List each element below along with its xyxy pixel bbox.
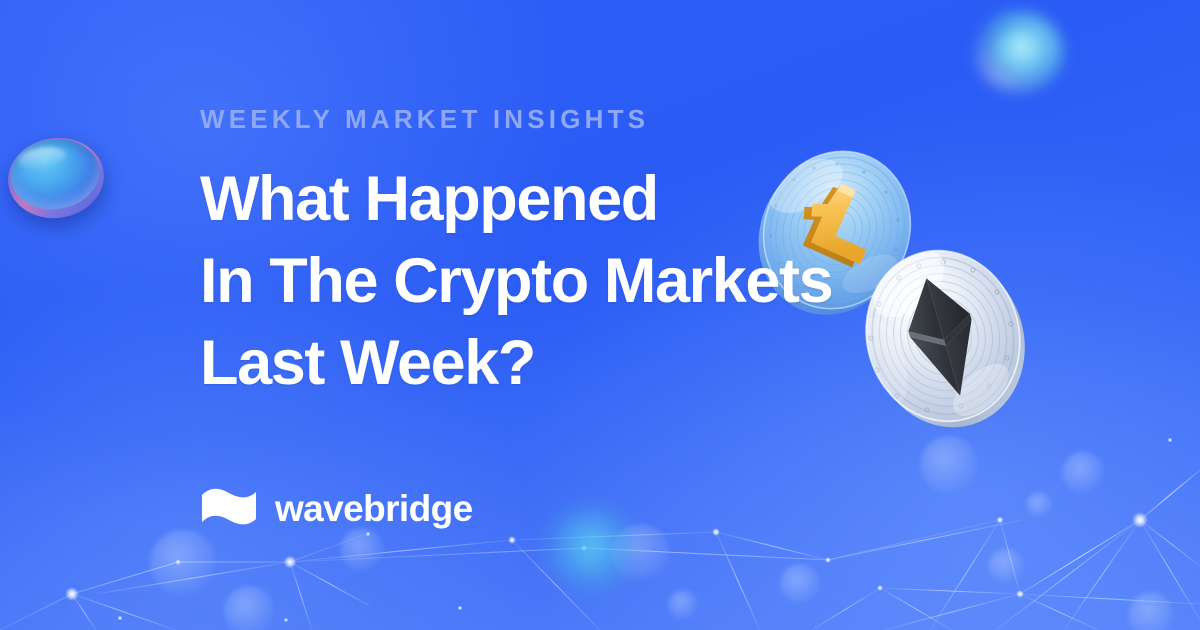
bokeh-dot (1128, 592, 1174, 630)
wavebridge-logo: wavebridge (200, 486, 473, 530)
eyebrow-label: WEEKLY MARKET INSIGHTS (200, 104, 649, 135)
headline-line-1: What Happened (200, 158, 900, 240)
bokeh-orb-top-right-core (996, 30, 1042, 72)
bokeh-dot (988, 548, 1024, 584)
headline-line-3: Last Week? (200, 322, 900, 404)
page-title: What Happened In The Crypto Markets Last… (200, 158, 900, 404)
bokeh-dot (1062, 452, 1104, 494)
wavebridge-flag-mark-icon (200, 486, 258, 530)
wavebridge-wordmark: wavebridge (275, 490, 473, 527)
glossy-disc-left (3, 132, 109, 225)
bokeh-dot (1026, 492, 1052, 518)
content-block: WEEKLY MARKET INSIGHTS What Happened In … (200, 0, 960, 630)
weekly-market-insights-banner: WEEKLY MARKET INSIGHTS What Happened In … (0, 0, 1200, 630)
headline-line-2: In The Crypto Markets (200, 240, 900, 322)
